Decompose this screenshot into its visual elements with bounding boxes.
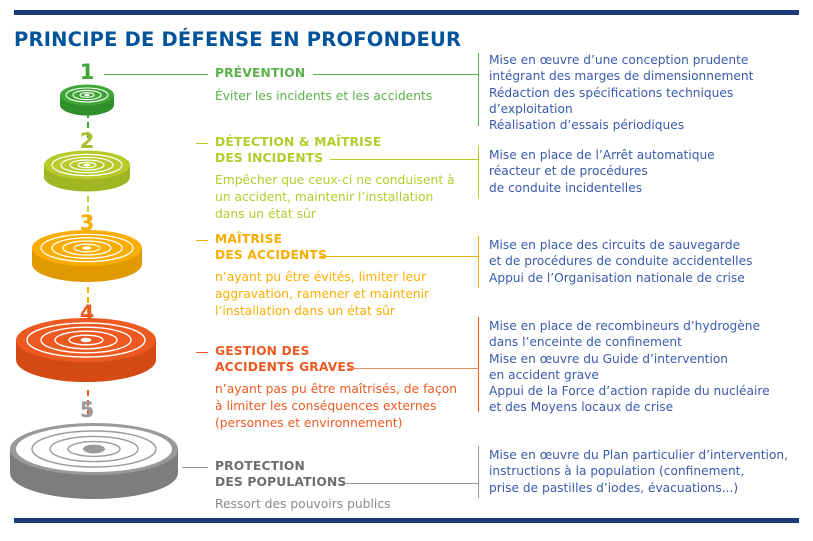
leader-left-1	[104, 74, 208, 75]
step-number-1: 1	[70, 62, 104, 83]
bracket-tick-1	[470, 74, 479, 75]
level-5-heading-line-1: PROTECTION	[215, 459, 305, 473]
measure-line: Mise en œuvre du Plan particulier d’inte…	[489, 447, 809, 463]
leader-right-1	[313, 74, 478, 75]
level-3-body: n’ayant pu être évités, limiter leur agg…	[215, 269, 455, 320]
bottom-rule	[14, 518, 799, 523]
level-2-text: DÉTECTION & MAÎTRISE DES INCIDENTS Empêc…	[215, 135, 455, 223]
top-rule	[14, 10, 799, 15]
leader-right-3	[320, 256, 478, 257]
page-title: PRINCIPE DE DÉFENSE EN PROFONDEUR	[14, 28, 461, 51]
measure-line: de conduite incidentelles	[489, 180, 804, 196]
bracket-tick-5	[470, 483, 479, 484]
level-1-body: Éviter les incidents et les accidents	[215, 88, 455, 105]
bracket-5	[478, 446, 479, 498]
leader-left-5	[182, 467, 208, 468]
leader-right-2	[330, 159, 478, 160]
bracket-tick-4	[470, 368, 479, 369]
disc-level-4	[12, 318, 160, 388]
measure-line: intégrant des marges de dimensionnement	[489, 68, 804, 84]
measure-line: en accident grave	[489, 367, 804, 383]
level-2-heading-line-2: DES INCIDENTS	[215, 151, 323, 165]
measure-line: Mise en place de recombineurs d’hydrogèn…	[489, 318, 804, 334]
level-3-heading-line-2: DES ACCIDENTS	[215, 248, 327, 262]
level-5-heading-line-2: DES POPULATIONS	[215, 475, 346, 489]
level-1-heading-line-1: PRÉVENTION	[215, 66, 305, 80]
level-4-heading-line-1: GESTION DES	[215, 344, 309, 358]
measure-line: et des Moyens locaux de crise	[489, 399, 804, 415]
leader-left-2	[196, 143, 208, 144]
measure-line: Rédaction des spécifications techniques	[489, 85, 804, 101]
level-4-measures: Mise en place de recombineurs d’hydrogèn…	[489, 318, 804, 416]
leader-left-3	[196, 240, 208, 241]
step-number-2: 2	[70, 131, 104, 152]
level-4-heading-line-2: ACCIDENTS GRAVES	[215, 360, 355, 374]
level-2-body: Empêcher que ceux-ci ne conduisent à un …	[215, 172, 455, 223]
bracket-4	[478, 317, 479, 412]
leader-right-4	[348, 368, 478, 369]
bracket-tick-2	[470, 159, 479, 160]
leader-right-5	[344, 483, 478, 484]
measure-line: Mise en place de l’Arrêt automatique	[489, 147, 804, 163]
measure-line: prise de pastilles d’iodes, évacuations.…	[489, 480, 809, 496]
bracket-2	[478, 146, 479, 198]
level-4-text: GESTION DES ACCIDENTS GRAVES n’ayant pas…	[215, 344, 463, 432]
measure-line: instructions à la population (confinemen…	[489, 463, 809, 479]
measure-line: réacteur et de procédures	[489, 163, 804, 179]
level-5-measures: Mise en œuvre du Plan particulier d’inte…	[489, 447, 809, 496]
level-3-text: MAÎTRISE DES ACCIDENTS n’ayant pu être é…	[215, 232, 455, 320]
level-2-heading-line-1: DÉTECTION & MAÎTRISE	[215, 135, 381, 149]
disc-level-2	[40, 150, 134, 198]
bracket-3	[478, 236, 479, 288]
disc-level-5	[6, 423, 182, 505]
level-5-body: Ressort des pouvoirs publics	[215, 496, 455, 513]
level-3-measures: Mise en place des circuits de sauvegarde…	[489, 237, 804, 286]
level-5-text: PROTECTION DES POPULATIONS Ressort des p…	[215, 459, 455, 513]
measure-line: dans l’enceinte de confinement	[489, 334, 804, 350]
leader-left-4	[196, 352, 208, 353]
measure-line: Mise en œuvre d’une conception prudente	[489, 52, 804, 68]
disc-level-1	[56, 83, 118, 121]
level-3-heading-line-1: MAÎTRISE	[215, 232, 282, 246]
measure-line: d’exploitation	[489, 101, 804, 117]
disc-level-3	[28, 230, 146, 288]
step-number-5: 5	[70, 400, 104, 421]
bracket-1	[478, 53, 479, 126]
measure-line: Réalisation d’essais périodiques	[489, 117, 804, 133]
level-1-text: PRÉVENTION Éviter les incidents et les a…	[215, 66, 455, 105]
level-4-body: n’ayant pas pu être maîtrisés, de façon …	[215, 381, 463, 432]
bracket-tick-3	[470, 256, 479, 257]
level-2-measures: Mise en place de l’Arrêt automatique réa…	[489, 147, 804, 196]
level-1-measures: Mise en œuvre d’une conception prudente …	[489, 52, 804, 133]
measure-line: Mise en place des circuits de sauvegarde	[489, 237, 804, 253]
measure-line: Appui de l’Organisation nationale de cri…	[489, 270, 804, 286]
measure-line: et de procédures de conduite accidentell…	[489, 253, 804, 269]
measure-line: Mise en œuvre du Guide d’intervention	[489, 351, 804, 367]
measure-line: Appui de la Force d’action rapide du nuc…	[489, 383, 804, 399]
